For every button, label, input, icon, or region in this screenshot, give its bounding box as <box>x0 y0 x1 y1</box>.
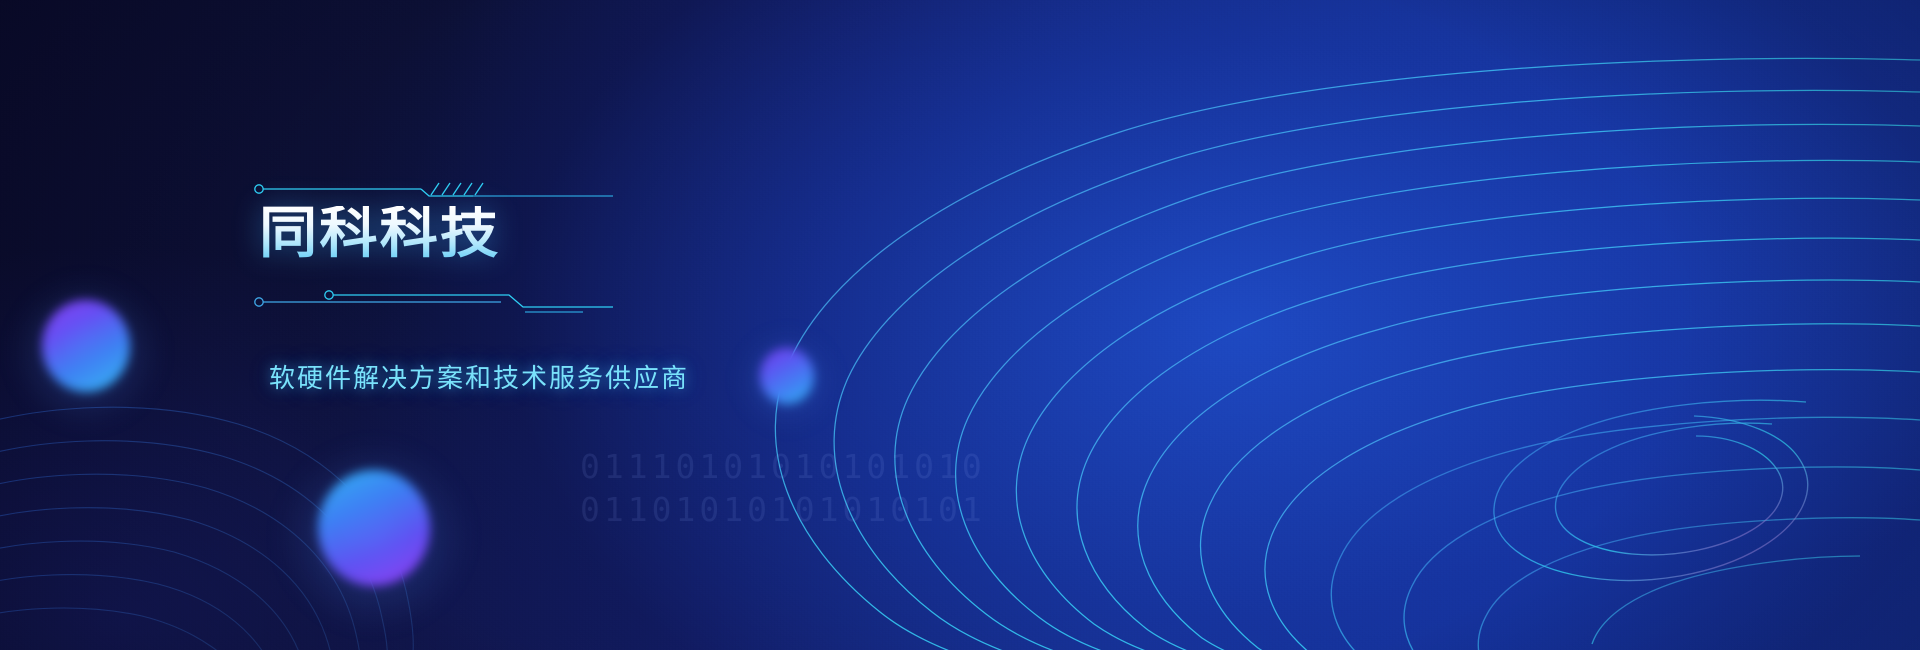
hero-content: 同科科技 软硬件解决方案和技术服务供应商 <box>253 178 1013 395</box>
tech-line-top <box>253 178 613 200</box>
gradient-orb-left <box>42 300 130 392</box>
page-title: 同科科技 <box>259 206 1043 262</box>
gradient-orb-bottom <box>318 470 430 586</box>
binary-text-line-1: 01110101010101010 <box>580 447 986 486</box>
hero-banner: 01110101010101010 01101010101010101 同科科技… <box>0 0 1920 650</box>
page-subtitle: 软硬件解决方案和技术服务供应商 <box>269 358 1013 395</box>
binary-text-line-2: 01101010101010101 <box>580 490 986 529</box>
